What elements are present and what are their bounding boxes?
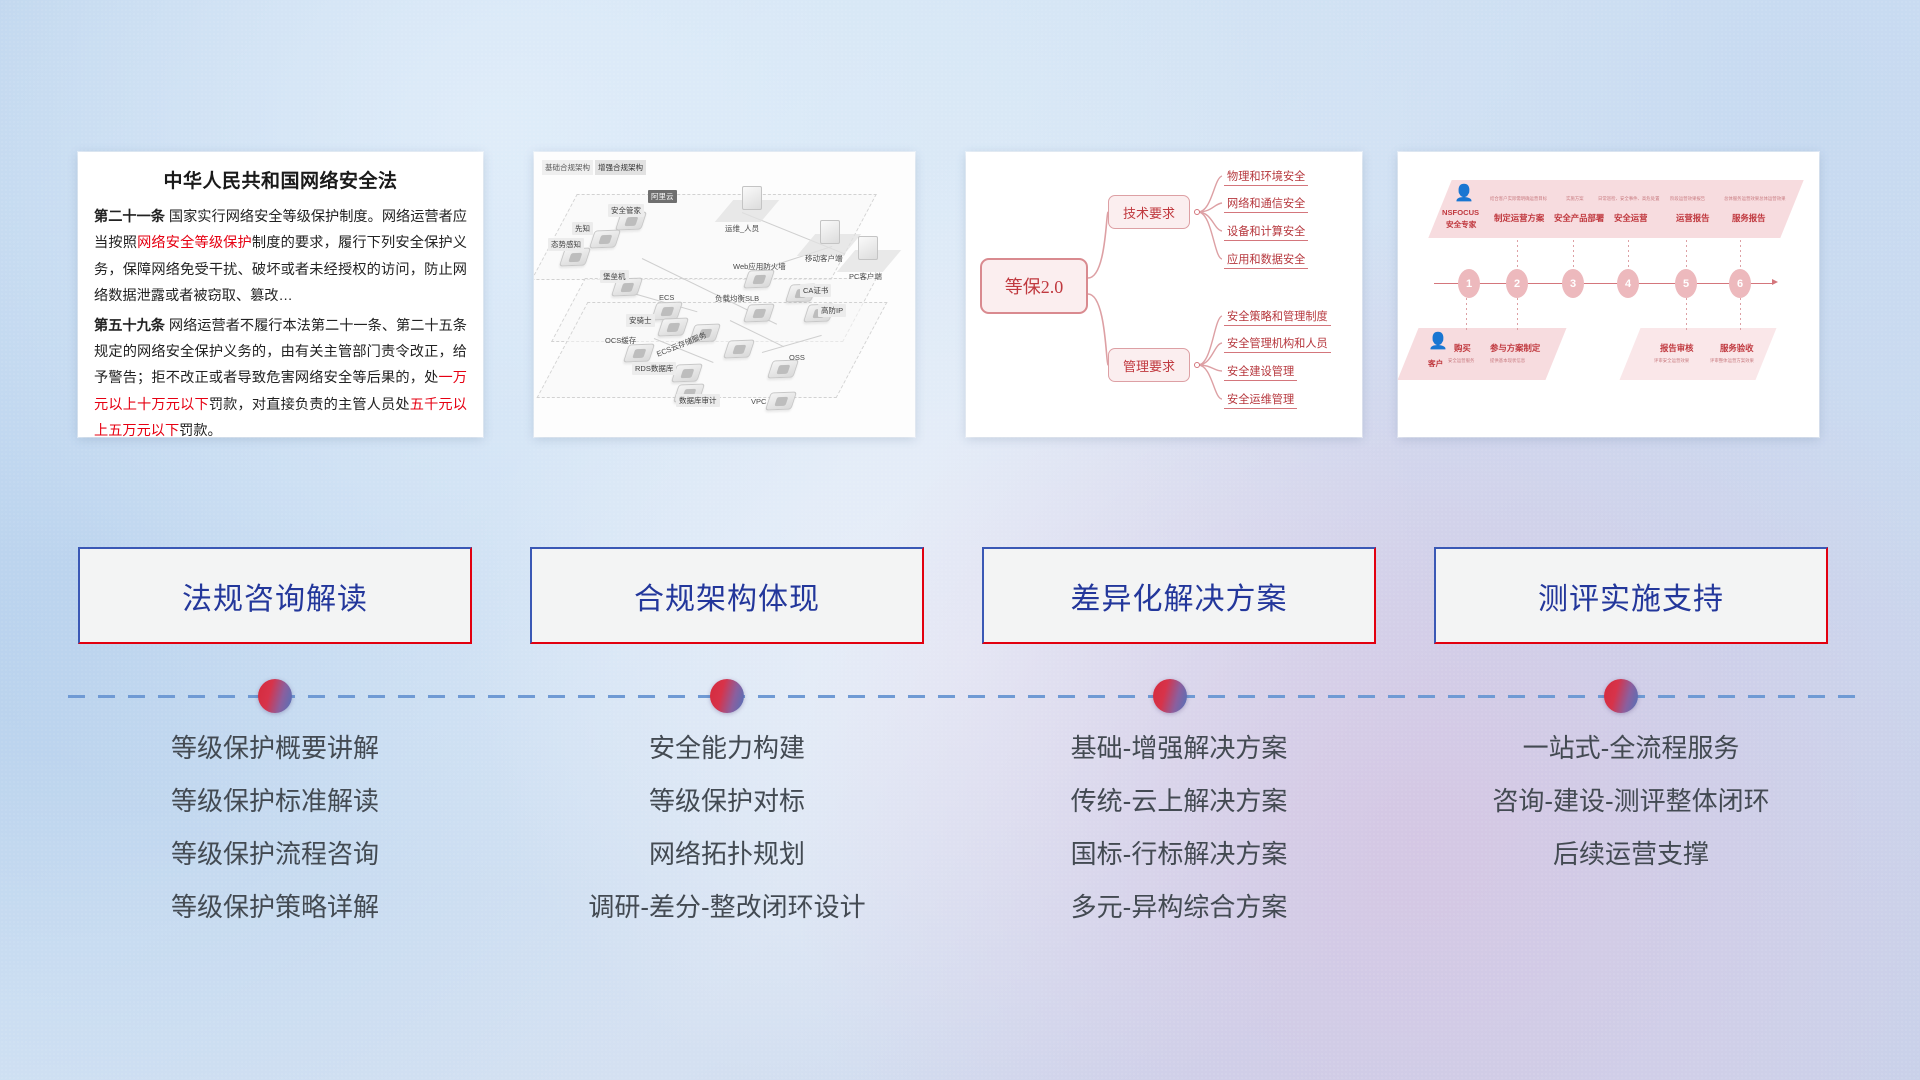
tick-b6	[1740, 298, 1741, 330]
top-step-4-sub: 阶段运营效果报告	[1670, 196, 1705, 202]
mindmap-leaf-app-data: 应用和数据安全	[1224, 251, 1308, 269]
mindmap-collapse-dot-technical[interactable]	[1194, 209, 1200, 215]
list-item: 多元-异构综合方案	[1071, 894, 1288, 920]
list-item: 等级保护策略详解	[171, 894, 379, 920]
timeline-dot-4[interactable]	[1604, 679, 1638, 713]
mindmap-leaf-device-compute: 设备和计算安全	[1224, 223, 1308, 241]
tab-enhanced-architecture[interactable]: 增强合规架构	[595, 160, 646, 175]
section-header-compliance-architecture[interactable]: 合规架构体现	[530, 547, 924, 644]
expert-person-icon: 👤	[1454, 186, 1474, 202]
label-oss: OSS	[786, 352, 808, 363]
top-step-5-title: 服务报告	[1732, 212, 1766, 224]
customer-person-icon: 👤	[1428, 334, 1448, 350]
tick-b1	[1466, 298, 1467, 330]
label-waf: Web应用防火墙	[730, 260, 789, 273]
list-item: 国标-行标解决方案	[1071, 841, 1288, 867]
label-slb: 负载均衡SLB	[712, 292, 762, 305]
tick-6	[1740, 240, 1741, 270]
top-step-4-title: 运营报告	[1676, 212, 1710, 224]
timeline-dot-3[interactable]	[1153, 679, 1187, 713]
screen-pc	[858, 236, 878, 260]
label-pc-client: PC客户端	[846, 270, 885, 283]
article-21-highlight: 网络安全等级保护	[137, 235, 252, 251]
tab-basic-architecture[interactable]: 基础合规架构	[542, 160, 593, 175]
expert-role-line1: NSFOCUS	[1442, 208, 1479, 217]
process-band-customer-right	[1619, 328, 1776, 380]
process-axis-line	[1434, 283, 1774, 284]
process-axis-arrow-icon	[1772, 279, 1778, 285]
bottom-step-2-sub: 提供基本现状信息	[1490, 358, 1525, 364]
section-header-assessment-support[interactable]: 测评实施支持	[1434, 547, 1828, 644]
bottom-step-3-title: 报告审核	[1660, 342, 1694, 354]
timeline-track	[68, 694, 1858, 698]
list-item: 调研-差分-整改闭环设计	[588, 894, 865, 920]
list-item: 等级保护标准解读	[171, 788, 379, 814]
label-rds: RDS数据库	[632, 362, 676, 375]
mindmap-collapse-dot-management[interactable]	[1194, 362, 1200, 368]
top-step-3-title: 安全运营	[1614, 212, 1648, 224]
timeline-dot-1[interactable]	[258, 679, 292, 713]
top-step-2-title: 安全产品部署	[1554, 212, 1604, 224]
top-step-1-sub: 结合客户实际需明确运营目标	[1490, 196, 1547, 202]
section-list-assessment-support: 一站式-全流程服务 咨询-建设-测评整体闭环 后续运营支撑	[1434, 735, 1828, 947]
card-compliance-architecture: 基础合规架构 增强合规架构 阿里云 运维_人员 移动客户端 PC客户端	[534, 152, 915, 437]
bottom-step-4-sub: 评审整体运营方案效果	[1710, 358, 1754, 364]
list-item: 网络拓扑规划	[649, 841, 805, 867]
mindmap-leaf-policy-system: 安全策略和管理制度	[1224, 308, 1331, 326]
timeline-dot-2[interactable]	[710, 679, 744, 713]
label-situation-awareness: 态势感知	[548, 238, 584, 251]
label-xianzhi: 先知	[572, 222, 593, 235]
law-body: 第二十一条 国家实行网络安全等级保护制度。网络运营者应当按照网络安全等级保护制度…	[94, 204, 467, 437]
tick-2	[1517, 240, 1518, 270]
process-step-6: 6	[1729, 269, 1751, 298]
process-band-expert	[1428, 180, 1803, 238]
list-item: 咨询-建设-测评整体闭环	[1492, 788, 1769, 814]
bottom-step-2-title: 参与方案制定	[1490, 342, 1540, 354]
article-59-text-c: 罚款。	[179, 423, 222, 437]
section-list-differentiated-solution: 基础-增强解决方案 传统-云上解决方案 国标-行标解决方案 多元-异构综合方案	[982, 735, 1376, 947]
section-list-row: 等级保护概要讲解 等级保护标准解读 等级保护流程咨询 等级保护策略详解 安全能力…	[0, 735, 1920, 947]
list-item: 安全能力构建	[649, 735, 805, 761]
article-21-label: 第二十一条	[94, 209, 165, 225]
label-db-audit: 数据库审计	[676, 394, 720, 407]
article-59-text-b: 罚款，对直接负责的主管人员处	[209, 397, 410, 413]
list-item: 一站式-全流程服务	[1523, 735, 1740, 761]
label-ca-cert: CA证书	[800, 284, 831, 297]
process-step-3: 3	[1562, 269, 1584, 298]
top-step-3-sub: 日常巡检、安全事件、高危处置	[1598, 196, 1659, 202]
node-vpc	[765, 392, 797, 411]
mindmap-leaf-network-comm: 网络和通信安全	[1224, 195, 1308, 213]
mindmap-branch-management: 管理要求	[1108, 348, 1190, 382]
bottom-step-3-sub: 评审安全运营效果	[1654, 358, 1689, 364]
mindmap-root: 等保2.0	[980, 258, 1088, 314]
mindmap-leaf-physical-env: 物理和环境安全	[1224, 168, 1308, 186]
section-header-row: 法规咨询解读 合规架构体现 差异化解决方案 测评实施支持	[0, 547, 1920, 644]
label-bastion-host: 堡垒机	[600, 270, 629, 283]
tick-b2	[1517, 298, 1518, 330]
bottom-step-1-title: 购买	[1454, 342, 1471, 354]
label-ecs: ECS	[656, 292, 677, 303]
process-timeline-diagram: 👤 NSFOCUS 安全专家 结合客户实际需明确运营目标 制定运营方案 实施方案…	[1398, 152, 1819, 437]
tick-5	[1686, 240, 1687, 270]
top-step-2-sub: 实施方案	[1566, 196, 1584, 202]
mindmap-branch-technical: 技术要求	[1108, 195, 1190, 229]
process-step-1: 1	[1458, 269, 1480, 298]
section-header-differentiated-solution[interactable]: 差异化解决方案	[982, 547, 1376, 644]
architecture-tabs: 基础合规架构 增强合规架构	[542, 160, 646, 175]
list-item: 等级保护概要讲解	[171, 735, 379, 761]
tick-3	[1573, 240, 1574, 270]
section-list-compliance-architecture: 安全能力构建 等级保护对标 网络拓扑规划 调研-差分-整改闭环设计	[530, 735, 924, 947]
label-alicloud: 阿里云	[648, 190, 677, 203]
label-security-butler: 安全管家	[608, 204, 644, 217]
section-list-regulation-consulting: 等级保护概要讲解 等级保护标准解读 等级保护流程咨询 等级保护策略详解	[78, 735, 472, 947]
process-step-2: 2	[1506, 269, 1528, 298]
law-article-21: 第二十一条 国家实行网络安全等级保护制度。网络运营者应当按照网络安全等级保护制度…	[94, 204, 467, 310]
process-band-customer-left	[1398, 328, 1567, 380]
mindmap-leaf-ops-mgmt: 安全运维管理	[1224, 391, 1297, 409]
label-ops-person: 运维_人员	[722, 222, 762, 235]
label-anqishi: 安骑士	[626, 314, 655, 327]
bottom-step-4-title: 服务验收	[1720, 342, 1754, 354]
card-row: 中华人民共和国网络安全法 第二十一条 国家实行网络安全等级保护制度。网络运营者应…	[0, 152, 1920, 437]
label-mobile-client: 移动客户端	[802, 252, 846, 265]
tick-4	[1628, 240, 1629, 270]
card-cybersecurity-law: 中华人民共和国网络安全法 第二十一条 国家实行网络安全等级保护制度。网络运营者应…	[78, 152, 483, 437]
screen-mobile	[820, 220, 840, 244]
mindmap-leaf-build-mgmt: 安全建设管理	[1224, 363, 1297, 381]
card-dengbao-mindmap: 等保2.0 技术要求 物理和环境安全 网络和通信安全 设备和计算安全 应用和数据…	[966, 152, 1362, 437]
law-title: 中华人民共和国网络安全法	[94, 166, 467, 193]
label-vpc: VPC	[748, 396, 769, 407]
mindmap: 等保2.0 技术要求 物理和环境安全 网络和通信安全 设备和计算安全 应用和数据…	[966, 152, 1362, 437]
tick-b5	[1686, 298, 1687, 330]
process-step-5: 5	[1675, 269, 1697, 298]
label-anti-ddos-ip: 高防IP	[818, 304, 846, 317]
screen-ops	[742, 186, 762, 210]
list-item: 传统-云上解决方案	[1071, 788, 1288, 814]
bottom-step-1-sub: 安全运营服务	[1448, 358, 1474, 364]
process-step-4: 4	[1617, 269, 1639, 298]
article-59-label: 第五十九条	[94, 318, 165, 334]
list-item: 基础-增强解决方案	[1071, 735, 1288, 761]
architecture-diagram: 基础合规架构 增强合规架构 阿里云 运维_人员 移动客户端 PC客户端	[534, 152, 915, 437]
expert-role-line2: 安全专家	[1446, 219, 1476, 230]
mindmap-leaf-org-personnel: 安全管理机构和人员	[1224, 335, 1331, 353]
law-article-59: 第五十九条 网络运营者不履行本法第二十一条、第二十五条规定的网络安全保护义务的，…	[94, 313, 467, 437]
customer-role-label: 客户	[1428, 358, 1443, 369]
list-item: 等级保护流程咨询	[171, 841, 379, 867]
list-item: 等级保护对标	[649, 788, 805, 814]
section-header-regulation-consulting[interactable]: 法规咨询解读	[78, 547, 472, 644]
top-step-1-title: 制定运营方案	[1494, 212, 1544, 224]
list-item: 后续运营支撑	[1553, 841, 1709, 867]
label-ocs-cache: OCS缓存	[602, 334, 639, 347]
top-step-5-sub: 总体服务运营效果总体运营效果	[1724, 196, 1785, 202]
card-nsfocus-process: 👤 NSFOCUS 安全专家 结合客户实际需明确运营目标 制定运营方案 实施方案…	[1398, 152, 1819, 437]
